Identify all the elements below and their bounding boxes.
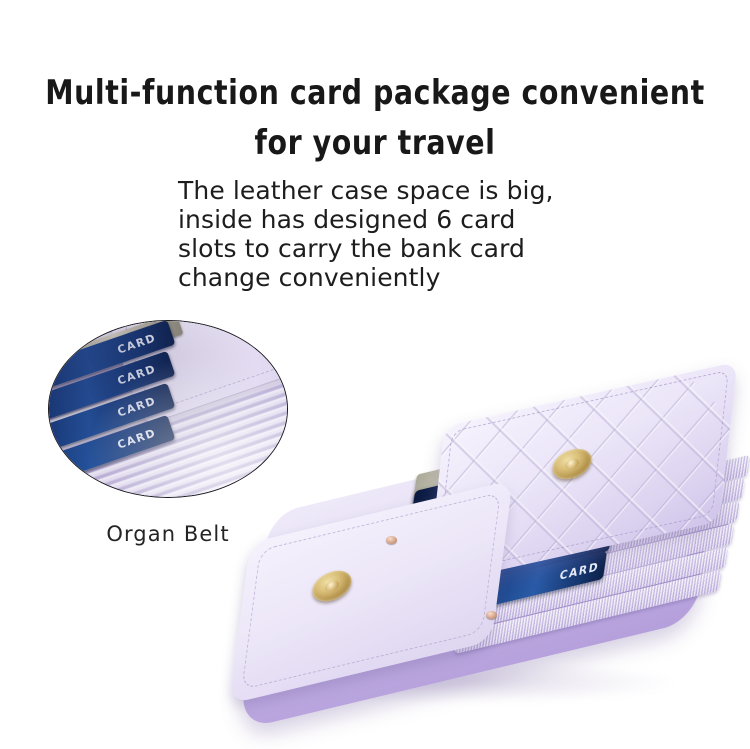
product-photo: CARD CARD CARD CARD CARD <box>236 396 750 716</box>
description-line-4: change conveniently <box>178 263 618 292</box>
rivet <box>386 536 397 544</box>
bank-card-label: CARD <box>559 560 601 583</box>
product-feature-page: Multi-function card package convenient f… <box>0 0 750 749</box>
description-text: The leather case space is big, inside ha… <box>178 176 618 292</box>
description-line-2: inside has designed 6 card <box>178 205 618 234</box>
page-title: Multi-function card package convenient f… <box>26 68 724 168</box>
rivet <box>486 611 497 619</box>
headline-line-2: for your travel <box>26 118 724 168</box>
headline-line-1: Multi-function card package convenient <box>26 68 724 118</box>
description-line-3: slots to carry the bank card <box>178 234 618 263</box>
description-line-1: The leather case space is big, <box>178 176 618 205</box>
